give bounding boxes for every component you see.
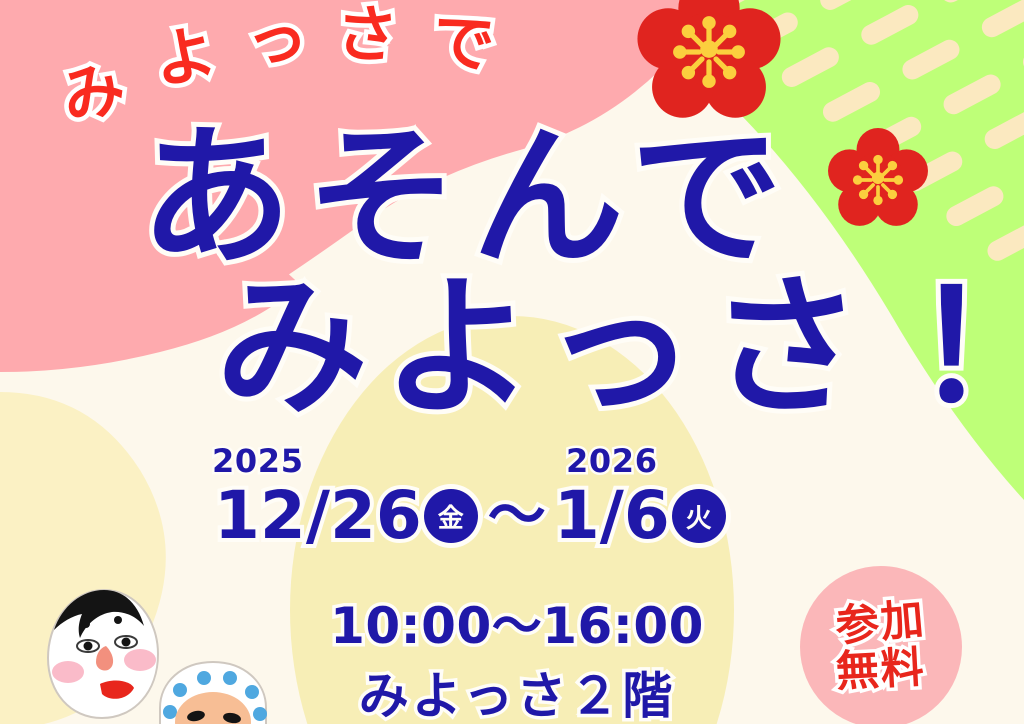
baby-with-bonnet-icon <box>152 660 274 724</box>
okame-mask-icon <box>38 584 170 724</box>
sub-title-char-2: っ <box>244 6 311 72</box>
headline-line-1: あそんで <box>140 122 796 274</box>
date-start: 12/26 <box>214 483 422 549</box>
free-admission-badge: 参加 無料 <box>800 566 962 724</box>
date-end: 1/6 <box>554 483 670 549</box>
plum-blossom-large <box>637 0 780 118</box>
free-badge-line-1: 参加 <box>834 597 927 650</box>
sub-title-char-4: で <box>428 8 498 78</box>
sub-title-char-3: さ <box>335 3 399 67</box>
year-end-label: 2026 <box>566 442 658 480</box>
sub-title-char-0: み <box>55 55 132 132</box>
dow-badge-end: 火 <box>672 489 726 543</box>
poster-canvas: み よ っ さ で あそんで みよっさ！ 2025 2026 12/26 金 ～… <box>0 0 1024 724</box>
sub-title: み よ っ さ で <box>62 6 532 126</box>
date-range: 12/26 金 ～ 1/6 火 <box>214 480 728 552</box>
sub-title-char-1: よ <box>149 21 221 93</box>
year-start-label: 2025 <box>212 442 304 480</box>
free-badge-line-2: 無料 <box>835 646 927 696</box>
headline-line-2: みよっさ！ <box>216 272 1024 424</box>
date-separator: ～ <box>488 487 546 545</box>
dow-badge-start: 金 <box>424 489 478 543</box>
